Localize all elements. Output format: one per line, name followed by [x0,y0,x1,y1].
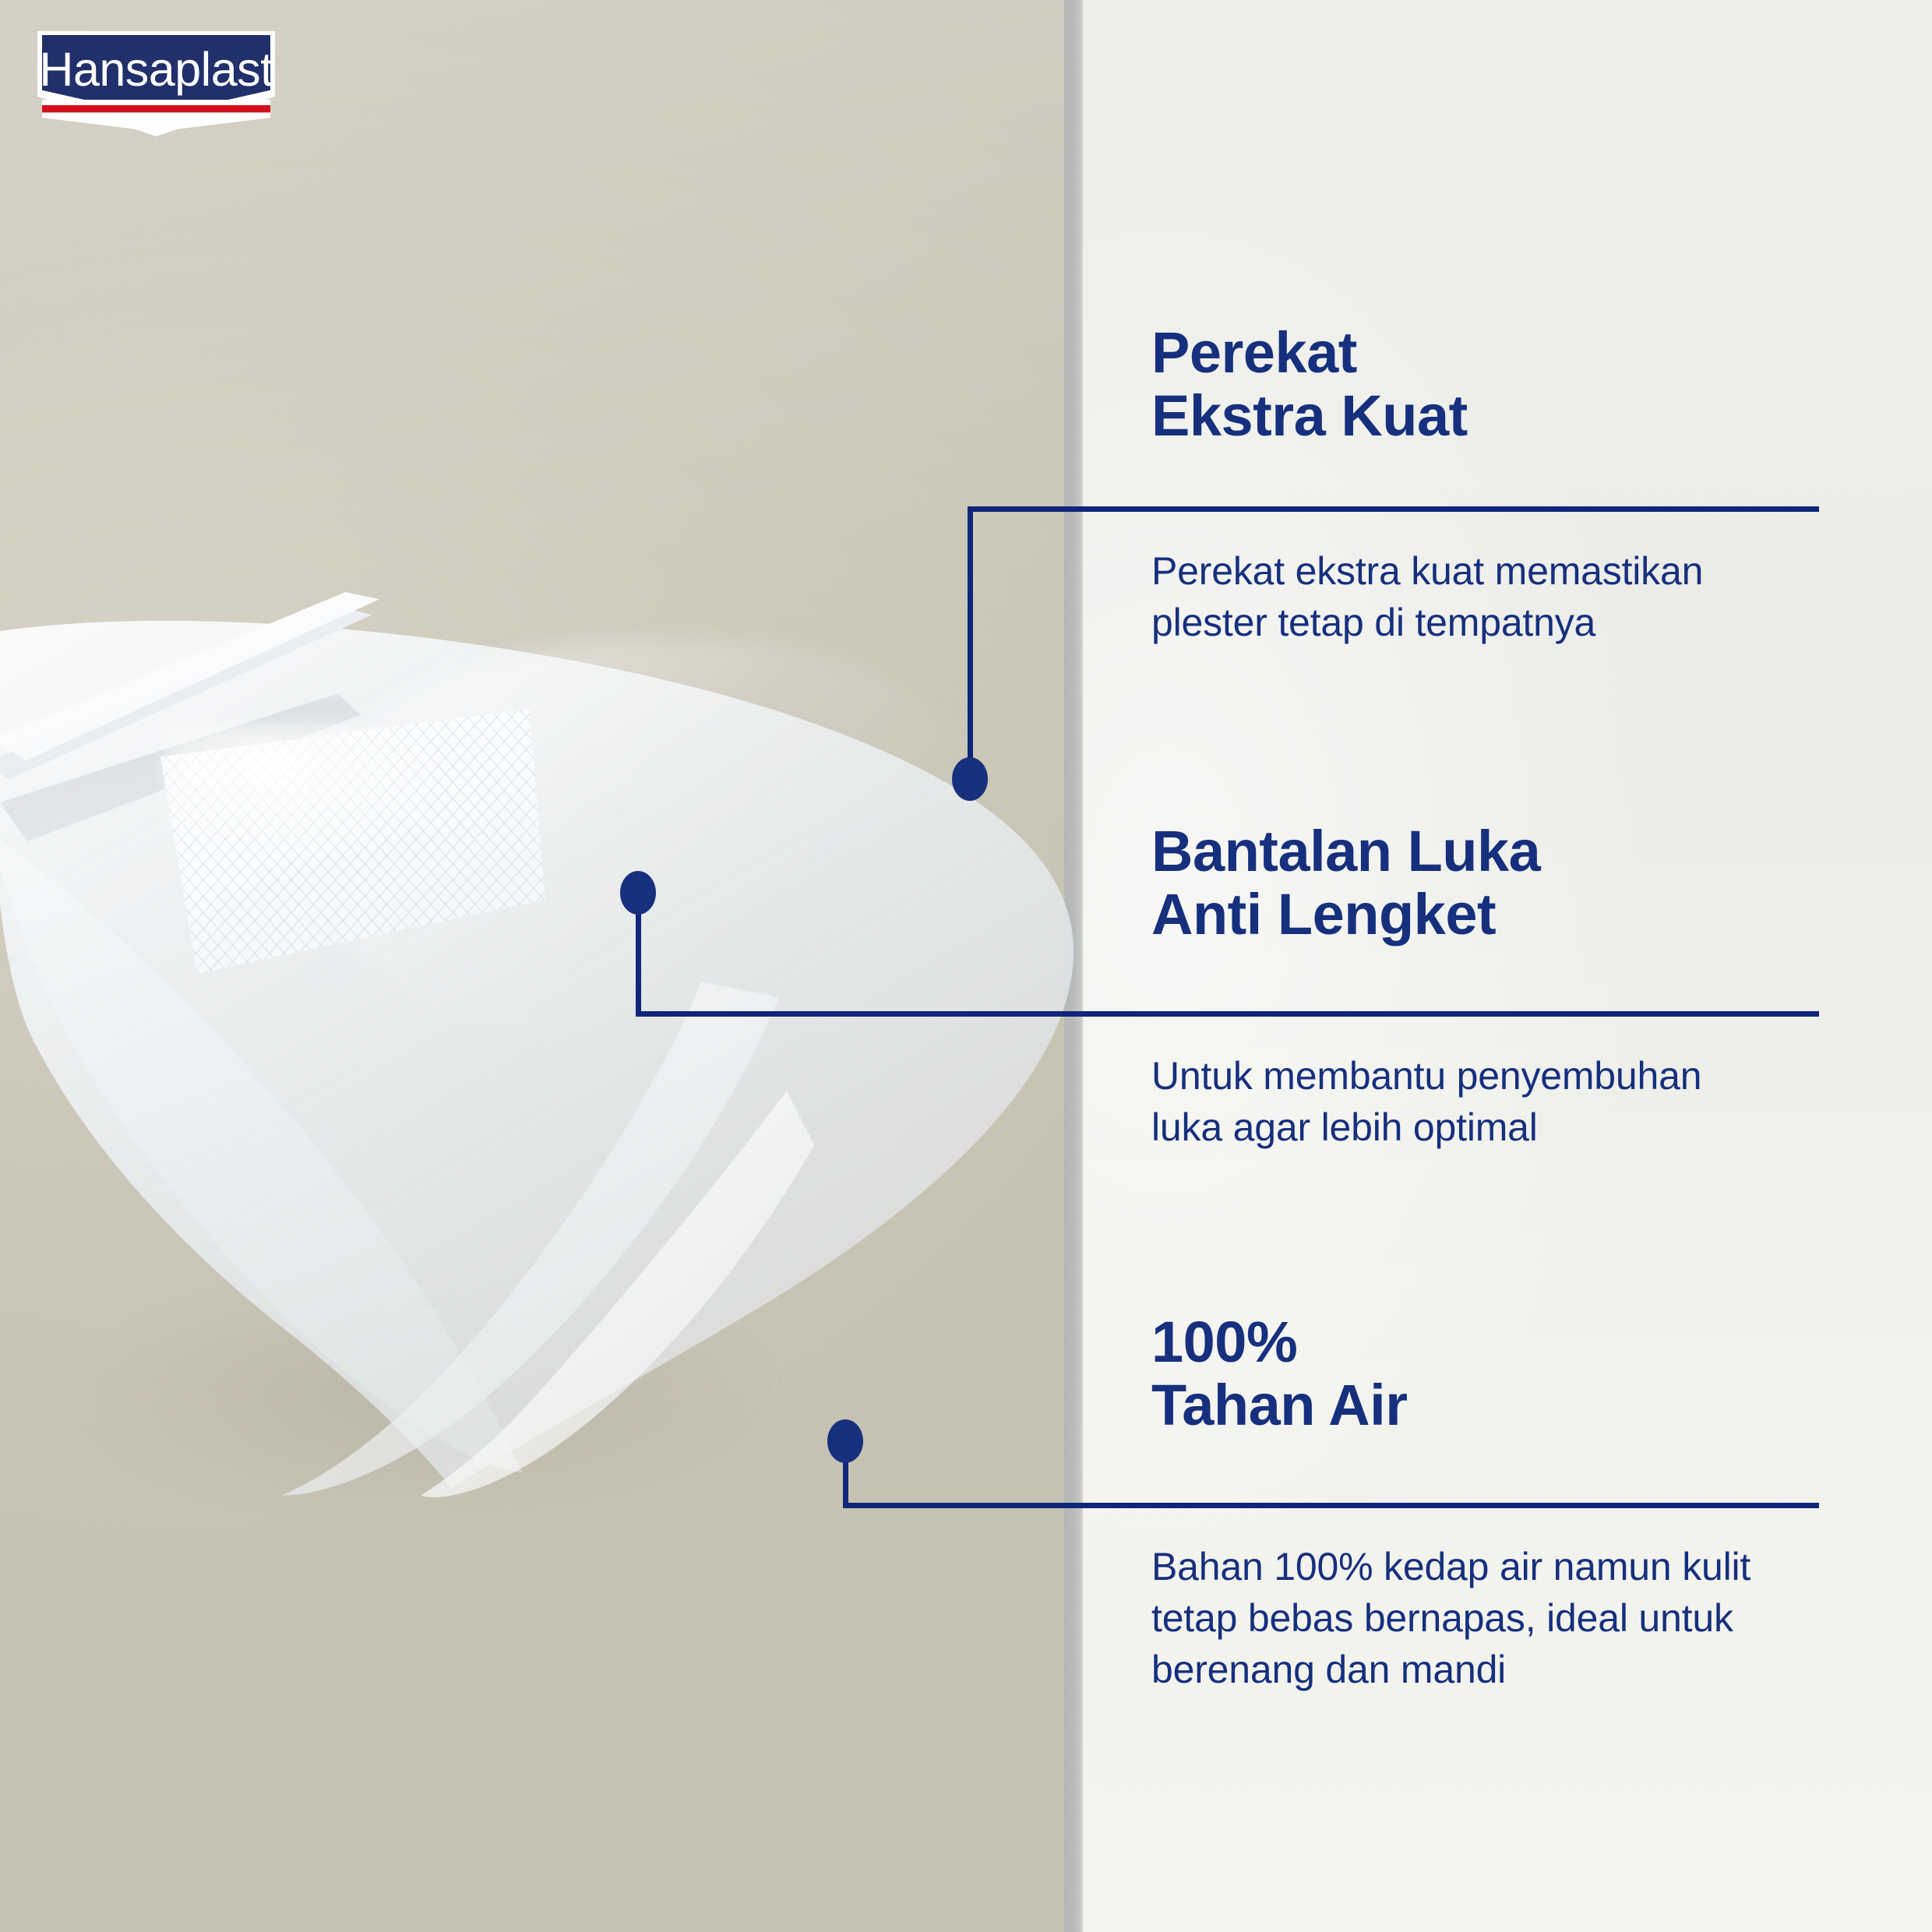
feature-1-body: Perekat ekstra kuat memastikan plester t… [1151,545,1853,648]
feature-block-2: Bantalan Luka Anti Lengket [1151,820,1853,947]
callout-dot-1 [952,757,988,801]
feature-3-title: 100% Tahan Air [1151,1310,1853,1437]
feature-3-body: Bahan 100% kedap air namun kulit tetap b… [1151,1541,1868,1695]
feature-block-1-body: Perekat ekstra kuat memastikan plester t… [1151,545,1853,648]
product-wound-pad-highlight [164,724,460,865]
logo-red-stripe-base [42,110,270,132]
connector-1-vertical [968,506,973,781]
logo-wordmark: Hansaplast [37,46,275,93]
feature-1-title: Perekat Ekstra Kuat [1151,321,1853,448]
feature-block-1: Perekat Ekstra Kuat [1151,321,1853,448]
feature-block-3: 100% Tahan Air [1151,1310,1853,1437]
connector-3-horizontal [843,1503,1819,1508]
feature-2-body: Untuk membantu penyembuhan luka agar leb… [1151,1050,1853,1153]
product-image [0,592,1114,1574]
feature-2-title: Bantalan Luka Anti Lengket [1151,820,1853,947]
connector-2-vertical [636,902,641,1017]
connector-1-horizontal [968,506,1819,512]
hansaplast-product-infographic: Hansaplast Perekat Ekstra Kuat Perekat e… [0,0,1932,1932]
feature-block-3-body: Bahan 100% kedap air namun kulit tetap b… [1151,1541,1868,1695]
feature-block-2-body: Untuk membantu penyembuhan luka agar leb… [1151,1050,1853,1153]
callout-dot-3 [827,1419,863,1463]
callout-dot-2 [620,871,656,915]
hansaplast-logo: Hansaplast [37,31,275,136]
connector-2-horizontal [636,1011,1819,1017]
